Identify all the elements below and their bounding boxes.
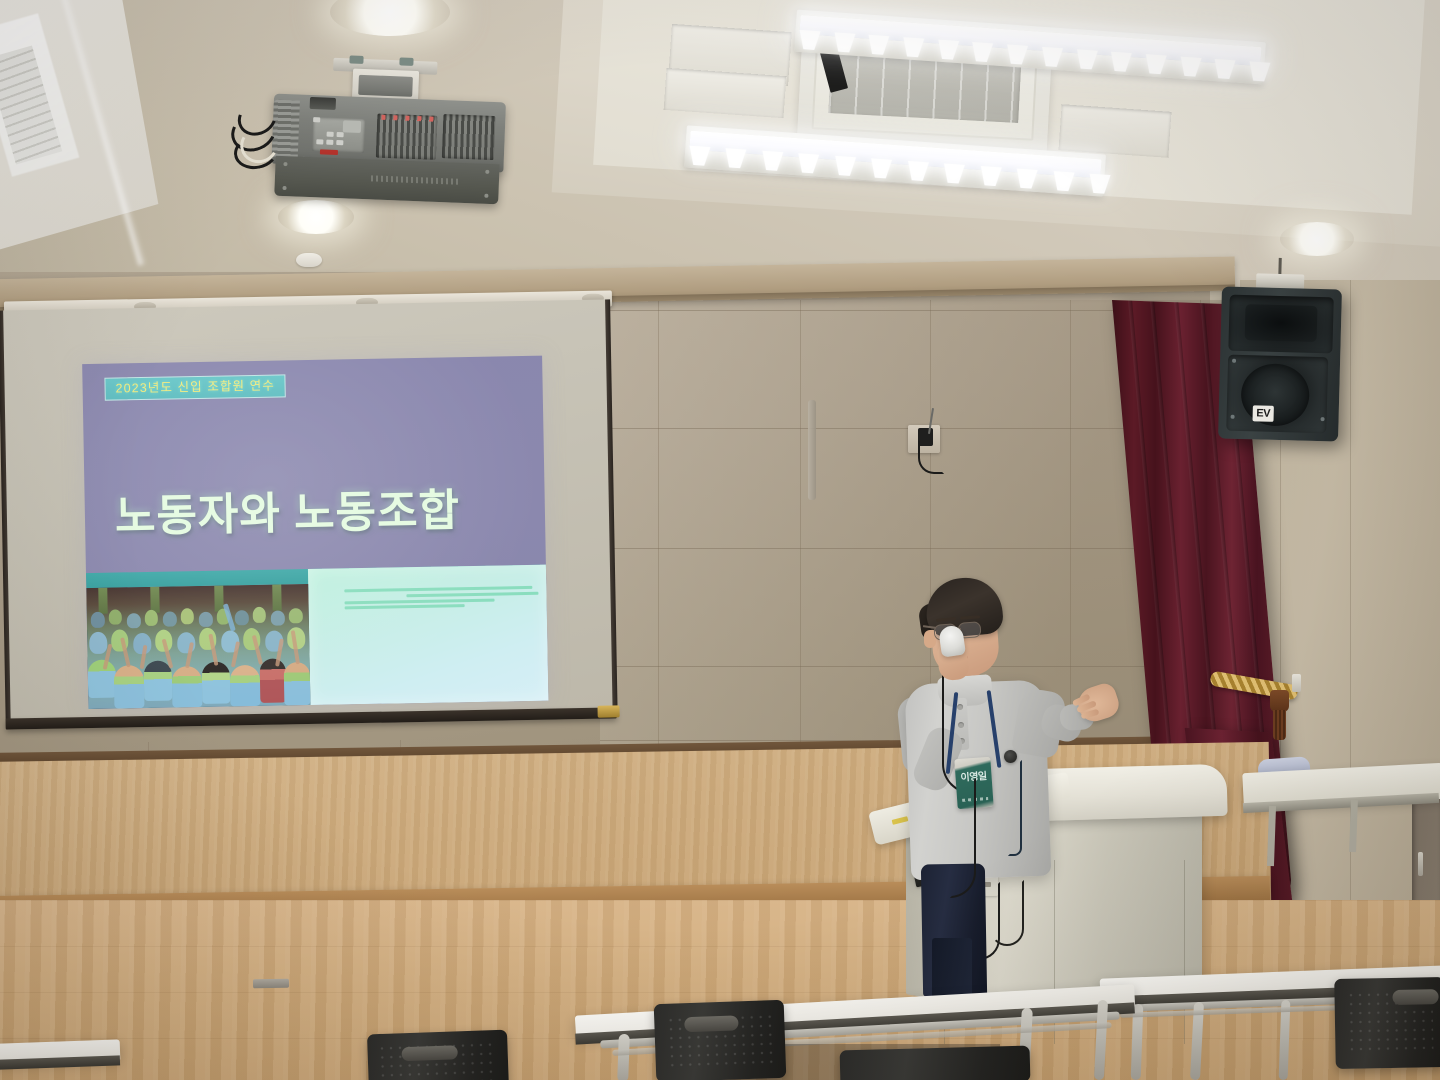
clip-microphone-cable bbox=[1008, 760, 1022, 856]
speaker-woofer: EV bbox=[1226, 355, 1328, 434]
air-diffuser bbox=[664, 68, 787, 118]
projector-power-switch bbox=[310, 97, 336, 110]
projection-screen: 2023년도 신입 조합원 연수 노동자와 노동조합 bbox=[0, 299, 618, 735]
projector-cables bbox=[225, 98, 290, 174]
floor-outlet[interactable] bbox=[253, 979, 289, 989]
chair-backrest bbox=[840, 1046, 1031, 1080]
slide-kicker-label: 2023년도 신입 조합원 연수 bbox=[104, 374, 286, 401]
lecture-hall-photo: 2023년도 신입 조합원 연수 노동자와 노동조합 bbox=[0, 0, 1440, 1080]
access-panel-handle[interactable] bbox=[1418, 852, 1423, 876]
wall-mounted-pa-speaker: EV bbox=[1218, 286, 1342, 441]
microphone-cable-lower bbox=[950, 778, 976, 898]
projector-brand-label bbox=[371, 175, 459, 184]
smoke-detector bbox=[296, 253, 322, 267]
wall-cable-conduit bbox=[808, 400, 816, 500]
speaker-brand-logo: EV bbox=[1252, 405, 1273, 422]
slide-crowd-photo bbox=[86, 584, 310, 709]
speaker-horn-tweeter bbox=[1228, 295, 1333, 354]
projector-vent bbox=[442, 114, 496, 160]
av-connector-cable bbox=[918, 440, 944, 474]
screen-bar-endcap bbox=[597, 705, 619, 717]
speaker-cone bbox=[1240, 363, 1310, 427]
projector-red-label bbox=[320, 149, 338, 155]
ceiling bbox=[0, 0, 1440, 300]
crowd-image bbox=[86, 584, 310, 709]
air-diffuser bbox=[1059, 104, 1172, 158]
projector-dpad bbox=[343, 120, 361, 133]
recessed-downlight bbox=[1280, 222, 1354, 256]
chair-backrest bbox=[367, 1030, 509, 1080]
projected-slide: 2023년도 신입 조합원 연수 노동자와 노동조합 bbox=[82, 356, 548, 709]
chair-backrest bbox=[654, 1000, 787, 1080]
curtain-tieback-hook[interactable] bbox=[1292, 674, 1301, 692]
curtain-tassel bbox=[1270, 690, 1289, 712]
chair-backrest bbox=[1334, 977, 1440, 1069]
recessed-downlight bbox=[278, 200, 354, 234]
presenter-trouser-leg bbox=[932, 938, 972, 998]
screen-surface: 2023년도 신입 조합원 연수 노동자와 노동조합 bbox=[3, 300, 612, 723]
ceiling-projector bbox=[270, 94, 506, 211]
slide-title: 노동자와 노동조합 bbox=[115, 486, 516, 541]
projector-control-panel bbox=[312, 117, 365, 153]
presenter: 이영일 bbox=[890, 578, 1120, 998]
projector-lower-housing bbox=[274, 156, 499, 205]
speaker-cabinet: EV bbox=[1218, 286, 1342, 441]
